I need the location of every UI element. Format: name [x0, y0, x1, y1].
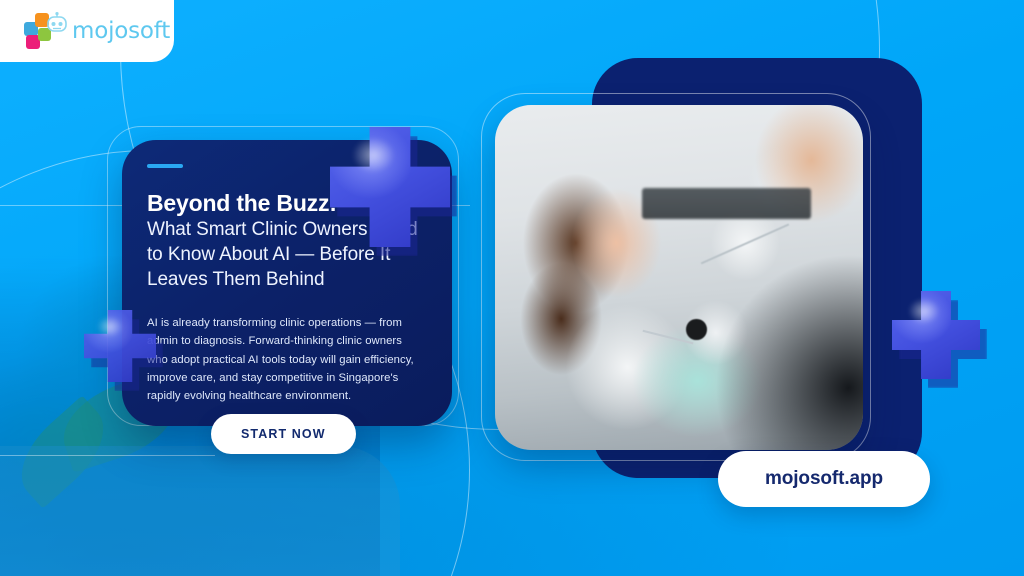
website-url-badge[interactable]: mojosoft.app	[718, 451, 930, 507]
plus-cross-icon	[84, 310, 156, 382]
brand-logo[interactable]: mojosoft	[0, 0, 174, 62]
puzzle-robot-logo-icon	[22, 11, 68, 51]
robot-head-icon	[44, 12, 70, 36]
accent-dash	[147, 164, 183, 168]
brand-logo-text: mojosoft	[72, 18, 170, 44]
hero-photo	[495, 105, 863, 450]
website-url-text: mojosoft.app	[765, 468, 883, 490]
start-now-button[interactable]: START NOW	[211, 414, 356, 454]
banner-canvas: mojosoft Beyond the Buzz: What Smart Cli…	[0, 0, 1024, 576]
body-paragraph: AI is already transforming clinic operat…	[147, 314, 425, 405]
plus-cross-icon	[330, 127, 450, 247]
hero-photo-image	[495, 105, 863, 450]
photo-dental-mirror	[686, 319, 706, 340]
plus-cross-icon	[892, 291, 980, 379]
photo-dental-probe	[701, 224, 789, 265]
photo-counter-detail	[642, 188, 811, 219]
